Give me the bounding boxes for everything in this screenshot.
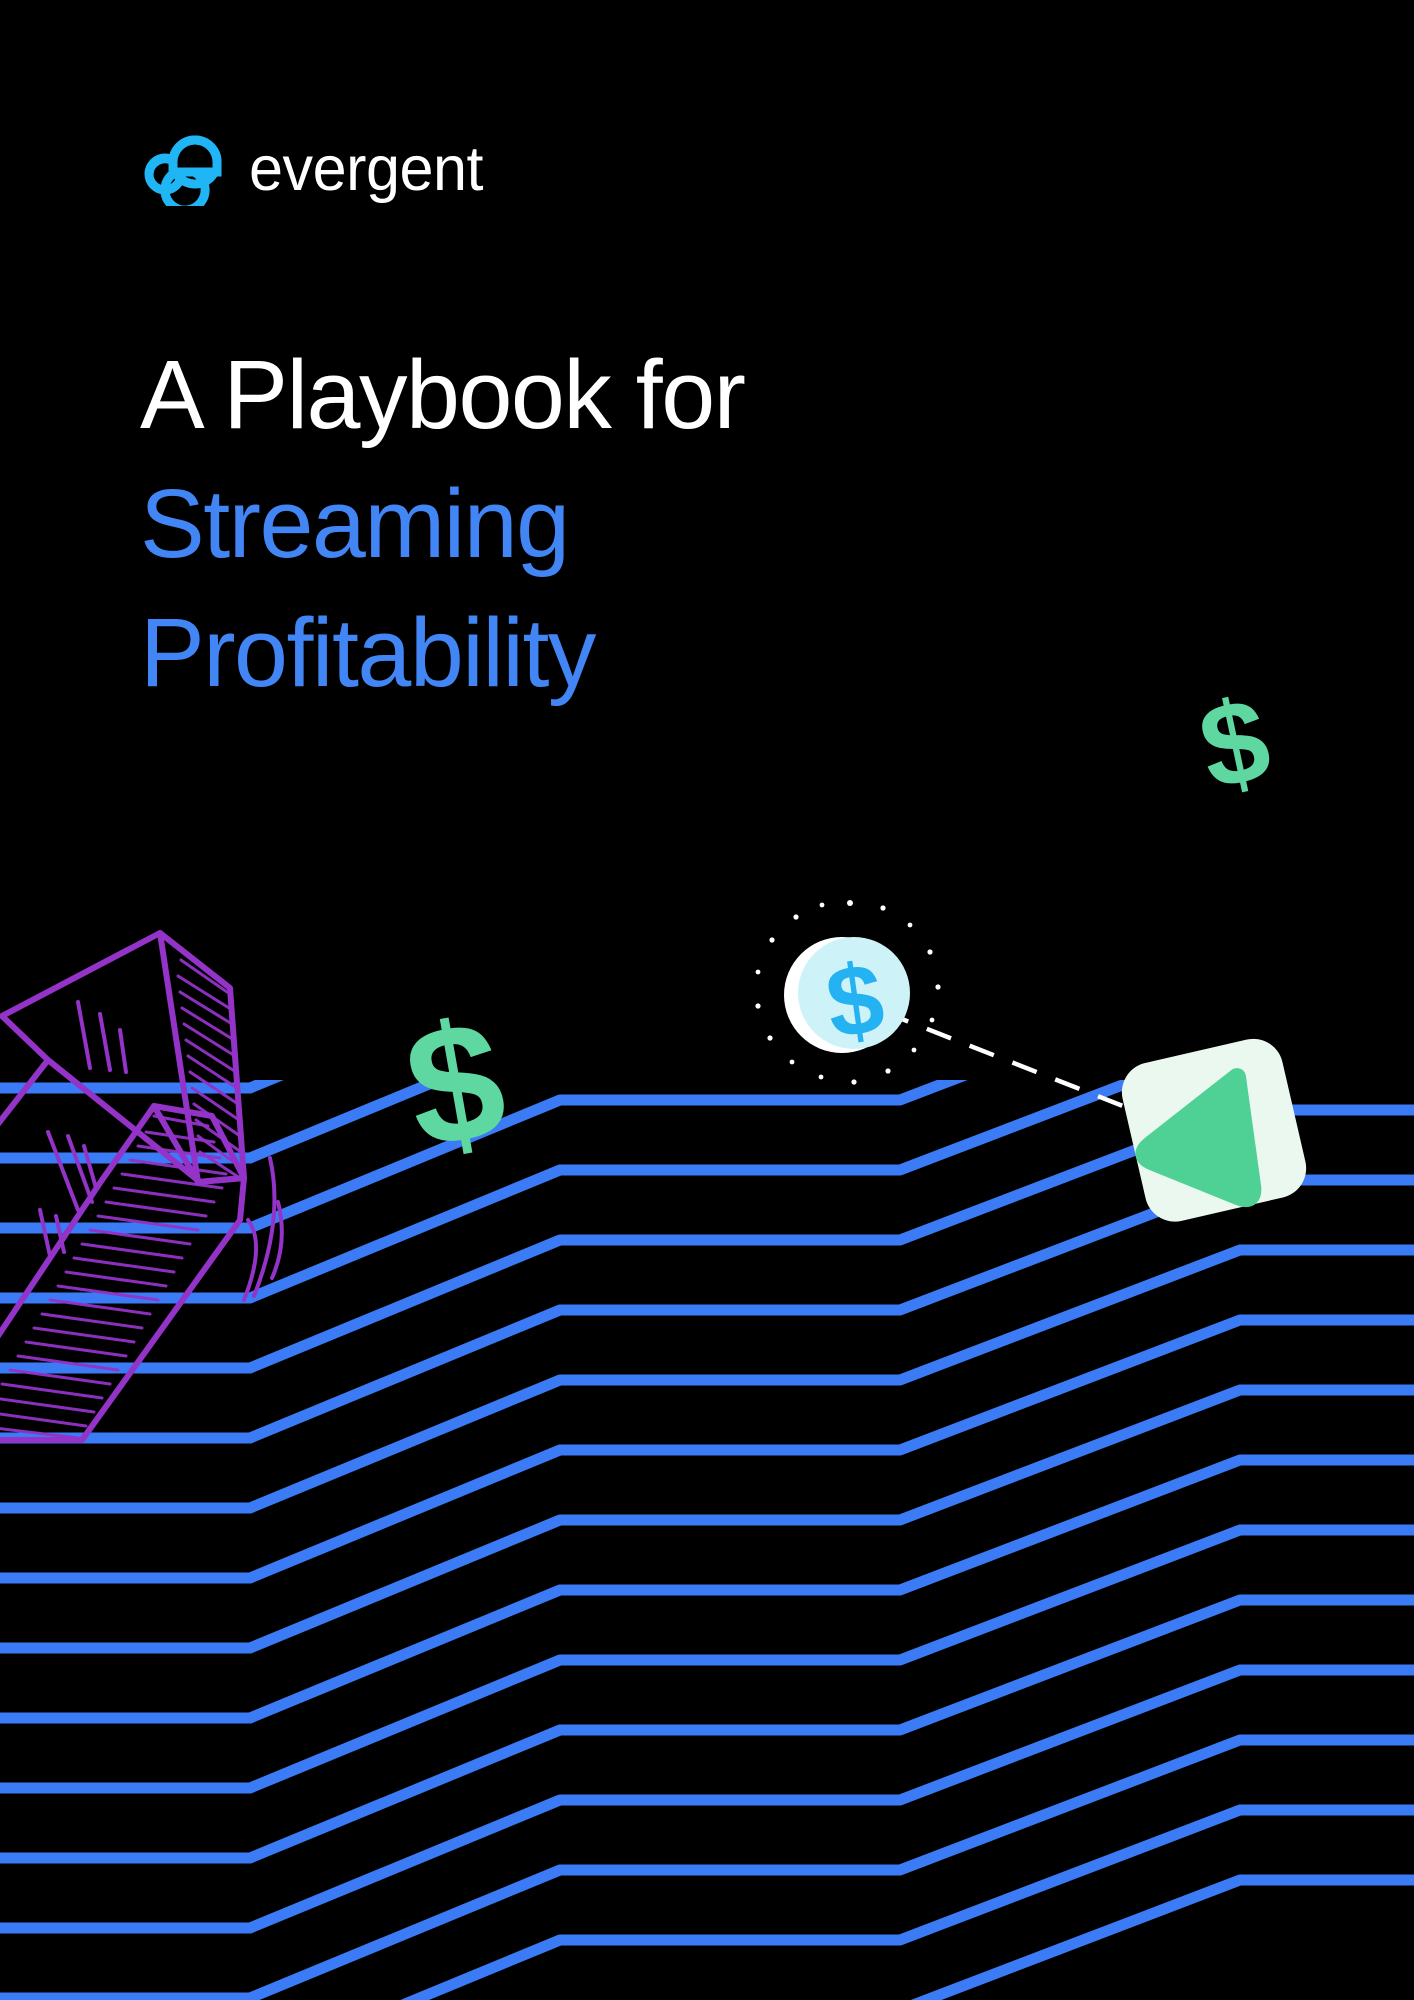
cover-page: evergent A Playbook for Streaming Profit… xyxy=(0,0,1414,2000)
svg-text:$: $ xyxy=(393,990,518,1175)
title-line-2: Streaming xyxy=(140,459,744,588)
dollar-sign-small-icon: $ xyxy=(380,990,530,1180)
page-title: A Playbook for Streaming Profitability xyxy=(140,330,744,717)
dollar-sign-large-icon: $ xyxy=(1180,680,1290,815)
evergent-cloud-logo-icon xyxy=(143,128,227,211)
title-line-3: Profitability xyxy=(140,588,744,717)
purple-growth-arrow-icon xyxy=(0,920,312,1545)
svg-text:$: $ xyxy=(1189,680,1281,810)
play-button-card[interactable] xyxy=(1110,1025,1320,1240)
brand-logo[interactable]: evergent xyxy=(143,128,490,211)
coin-badge-icon: $ xyxy=(750,895,950,1100)
title-line-1: A Playbook for xyxy=(140,330,744,459)
brand-wordmark: evergent xyxy=(249,138,483,201)
